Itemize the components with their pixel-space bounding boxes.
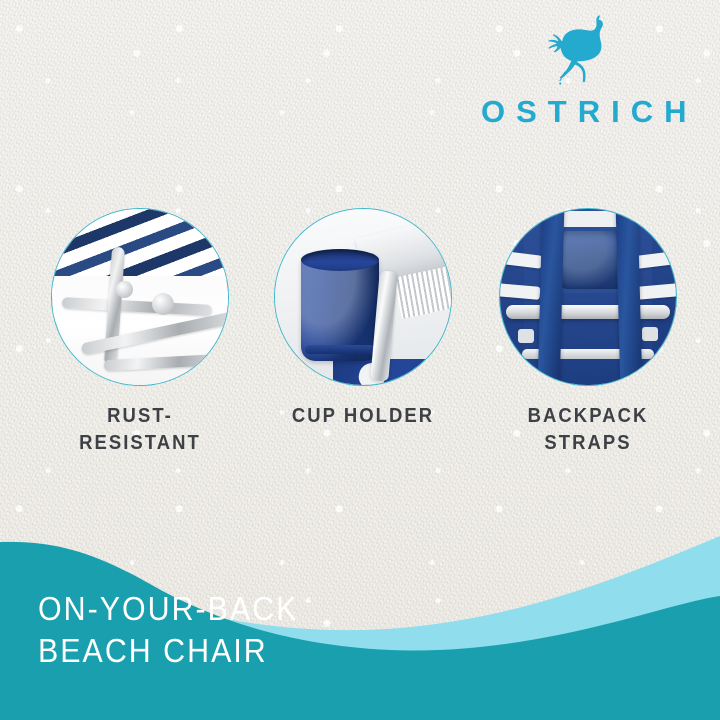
feature-backpack-straps: BACKPACK STRAPS [478, 208, 698, 456]
blue-fabric-base [333, 359, 452, 386]
cup-holder-rim [301, 249, 379, 271]
feature-caption: CUP HOLDER [264, 402, 462, 429]
cup-holder-seam [305, 345, 375, 354]
frame-end-cap [152, 293, 174, 315]
frame-end-cap [116, 281, 133, 298]
wave-banner: ON-YOUR-BACK BEACH CHAIR [0, 520, 720, 720]
banner-title-line2: BEACH CHAIR [38, 630, 461, 672]
backpack-strap-right [616, 209, 643, 386]
chair-frame-rail [506, 305, 670, 319]
feature-cup-holder: CUP HOLDER [253, 208, 473, 429]
brand-logo: OSTRICH [470, 14, 690, 127]
feature-caption-line1: CUP HOLDER [264, 402, 462, 429]
chair-slat [499, 283, 540, 300]
feature-caption: RUST- RESISTANT [41, 402, 239, 456]
brand-wordmark: OSTRICH [470, 96, 690, 127]
feature-image-rust-resistant [51, 208, 229, 386]
feature-caption: BACKPACK STRAPS [489, 402, 687, 456]
backpack-strap-left [538, 209, 565, 386]
feature-caption-line2: RESISTANT [41, 429, 239, 456]
feature-caption-line2: STRAPS [489, 429, 687, 456]
feature-image-cup-holder [274, 208, 452, 386]
banner-title-line1: ON-YOUR-BACK [38, 588, 461, 630]
strap-buckle [642, 327, 658, 341]
feature-row: RUST- RESISTANT CUP HOL [0, 208, 720, 468]
strap-buckle [518, 329, 534, 343]
feature-caption-line1: RUST- [41, 402, 239, 429]
feature-rust-resistant: RUST- RESISTANT [30, 208, 250, 456]
ostrich-bird-icon [541, 14, 619, 90]
feature-image-backpack-straps [499, 208, 677, 386]
product-feature-poster: OSTRICH RUST- RESISTANT [0, 0, 720, 720]
banner-title: ON-YOUR-BACK BEACH CHAIR [38, 588, 461, 672]
feature-caption-line1: BACKPACK [489, 402, 687, 429]
